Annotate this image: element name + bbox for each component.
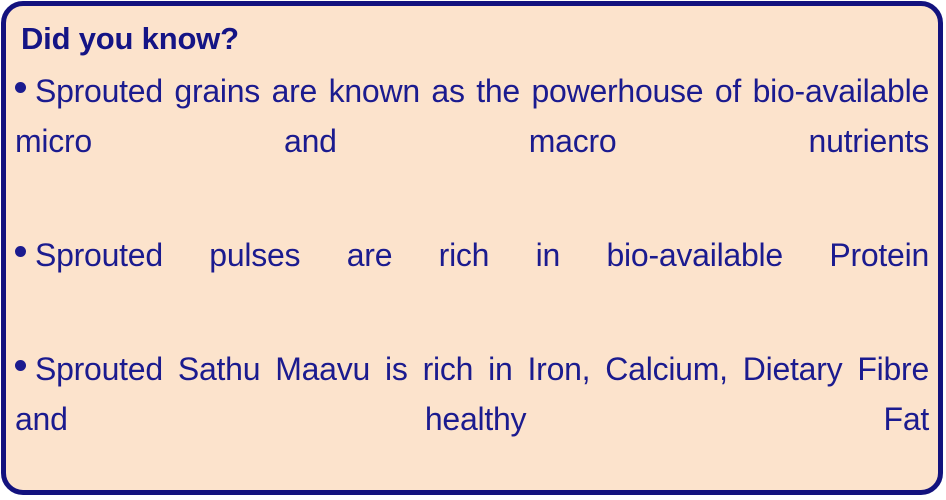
list-item: Sprouted Sathu Maavu is rich in Iron, Ca… (15, 344, 929, 494)
bullet-point-icon (15, 82, 26, 93)
fact-list: Sprouted grains are known as the powerho… (15, 66, 929, 494)
list-item: Sprouted pulses are rich in bio-availabl… (15, 230, 929, 330)
did-you-know-card: Did you know? Sprouted grains are known … (1, 1, 943, 495)
slide-canvas: Did you know? Sprouted grains are known … (0, 0, 946, 500)
bullet-point-icon (15, 360, 26, 371)
list-item: Sprouted grains are known as the powerho… (15, 66, 929, 216)
list-item-text: Sprouted pulses are rich in bio-availabl… (35, 237, 929, 273)
bullet-point-icon (15, 246, 26, 257)
list-item-text: Sprouted grains are known as the powerho… (15, 73, 929, 159)
list-item-text: Sprouted Sathu Maavu is rich in Iron, Ca… (15, 351, 929, 437)
page-title: Did you know? (21, 20, 929, 58)
